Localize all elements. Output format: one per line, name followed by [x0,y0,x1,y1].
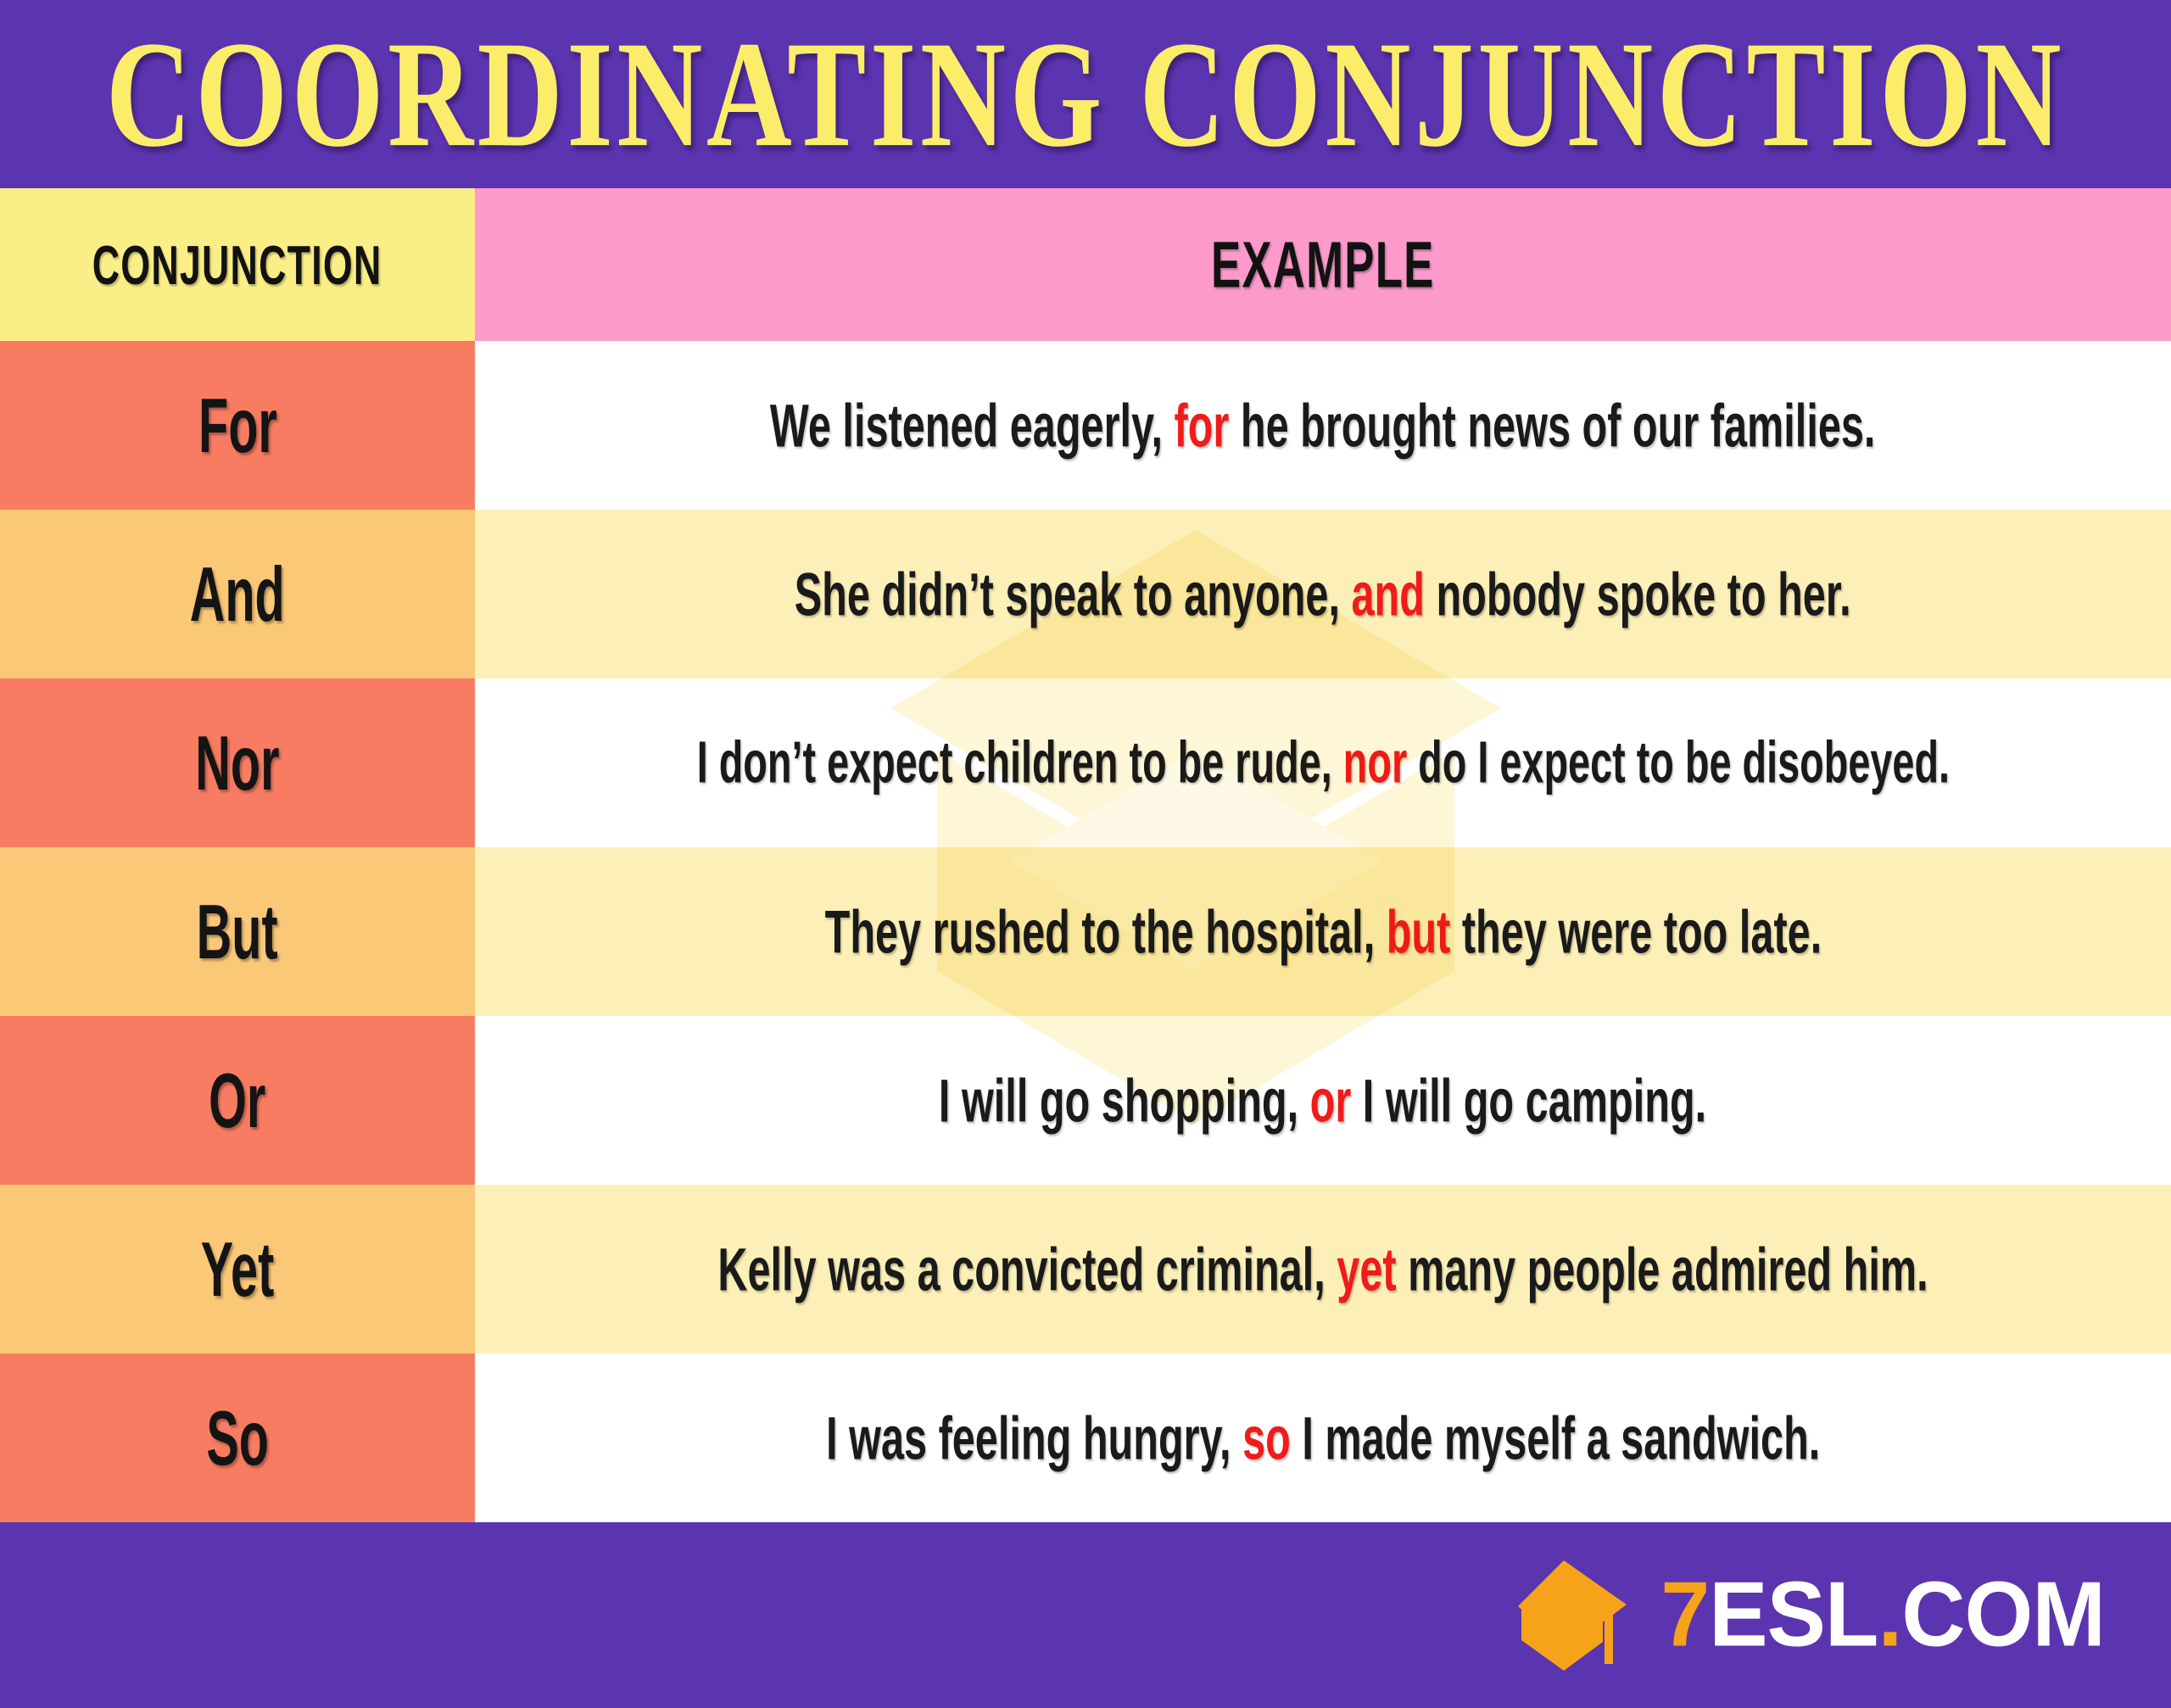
sentence-before: We listened eagerly, [770,391,1175,460]
table-row: And She didn’t speak to anyone, and nobo… [0,510,2171,678]
example-sentence: We listened eagerly, for he brought news… [770,390,1876,460]
highlighted-conjunction: but [1386,897,1450,966]
highlighted-conjunction: so [1242,1404,1291,1472]
header-cell-conjunction: CONJUNCTION [0,188,475,341]
sentence-after: do I expect to be disobeyed. [1407,730,1950,795]
logo-wordmark: 7ESL.COM [1660,1569,2105,1661]
conjunction-cell: And [0,510,475,678]
conjunction-label: And [190,550,285,639]
example-sentence: I was feeling hungry, so I made myself a… [826,1403,1820,1473]
example-cell: I was feeling hungry, so I made myself a… [475,1354,2171,1522]
sentence-after: I made myself a sandwich. [1291,1404,1820,1472]
conjunction-label: So [206,1393,269,1482]
example-cell: I will go shopping, or I will go camping… [475,1016,2171,1185]
conjunction-label: For [198,381,277,470]
table-row: Yet Kelly was a convicted criminal, yet … [0,1185,2171,1354]
conjunction-cell: Or [0,1016,475,1185]
example-cell: She didn’t speak to anyone, and nobody s… [475,510,2171,678]
sentence-before: Kelly was a convicted criminal, [717,1235,1337,1303]
example-sentence: I don’t expect children to be rude, nor … [696,729,1949,797]
example-sentence: I will go shopping, or I will go camping… [939,1065,1706,1136]
logo-com: COM [1901,1564,2105,1666]
conjunction-cell: Nor [0,678,475,847]
highlighted-conjunction: for [1175,391,1230,460]
table-row: Nor I don’t expect children to be rude, … [0,678,2171,847]
conjunction-cell: But [0,847,475,1016]
header-label-conjunction: CONJUNCTION [92,232,382,296]
conjunction-cell: For [0,341,475,510]
logo-dot: . [1878,1564,1901,1666]
conjunction-label: But [197,887,278,976]
conjunction-label: Or [209,1056,265,1145]
sentence-after: many people admired him. [1397,1235,1928,1303]
highlighted-conjunction: nor [1342,730,1406,795]
header-cell-example: EXAMPLE [475,188,2171,341]
conjunction-cell: So [0,1354,475,1522]
title-band: COORDINATING CONJUNCTION [0,0,2171,188]
example-sentence: They rushed to the hospital, but they we… [824,896,1822,967]
graduation-cap-icon [1515,1555,1642,1674]
example-cell: Kelly was a convicted criminal, yet many… [475,1185,2171,1354]
conjunction-label: Nor [195,718,279,807]
sentence-after: I will go camping. [1352,1066,1707,1135]
highlighted-conjunction: or [1310,1066,1352,1135]
sentence-before: I don’t expect children to be rude, [696,730,1342,795]
sentence-after: they were too late. [1450,897,1822,966]
table-header-row: CONJUNCTION EXAMPLE [0,188,2171,341]
sentence-before: They rushed to the hospital, [824,897,1386,966]
logo-seven: 7 [1660,1564,1709,1666]
conjunction-cell: Yet [0,1185,475,1354]
table-row: But They rushed to the hospital, but the… [0,847,2171,1016]
sentence-after: nobody spoke to her. [1425,560,1851,628]
table-row: For We listened eagerly, for he brought … [0,341,2171,510]
sentence-before: She didn’t speak to anyone, [795,560,1352,628]
highlighted-conjunction: and [1352,560,1425,628]
highlighted-conjunction: yet [1337,1235,1396,1303]
sentence-after: he brought news of our families. [1230,391,1876,460]
example-cell: They rushed to the hospital, but they we… [475,847,2171,1016]
conjunction-label: Yet [201,1225,274,1314]
conjunction-table: CONJUNCTION EXAMPLE For We listened eage… [0,188,2171,1522]
table-row: So I was feeling hungry, so I made mysel… [0,1354,2171,1522]
example-sentence: Kelly was a convicted criminal, yet many… [717,1234,1928,1304]
page-title: COORDINATING CONJUNCTION [87,0,2084,205]
site-logo[interactable]: 7ESL.COM [1515,1555,2105,1674]
example-cell: We listened eagerly, for he brought news… [475,341,2171,510]
logo-esl: ESL [1709,1564,1878,1666]
sentence-before: I was feeling hungry, [826,1404,1242,1472]
example-cell: I don’t expect children to be rude, nor … [475,678,2171,847]
infographic-poster: COORDINATING CONJUNCTION CONJUNCTION EXA… [0,0,2171,1708]
table-row: Or I will go shopping, or I will go camp… [0,1016,2171,1185]
example-sentence: She didn’t speak to anyone, and nobody s… [795,559,1851,629]
header-label-example: EXAMPLE [1211,227,1435,302]
sentence-before: I will go shopping, [939,1066,1310,1135]
